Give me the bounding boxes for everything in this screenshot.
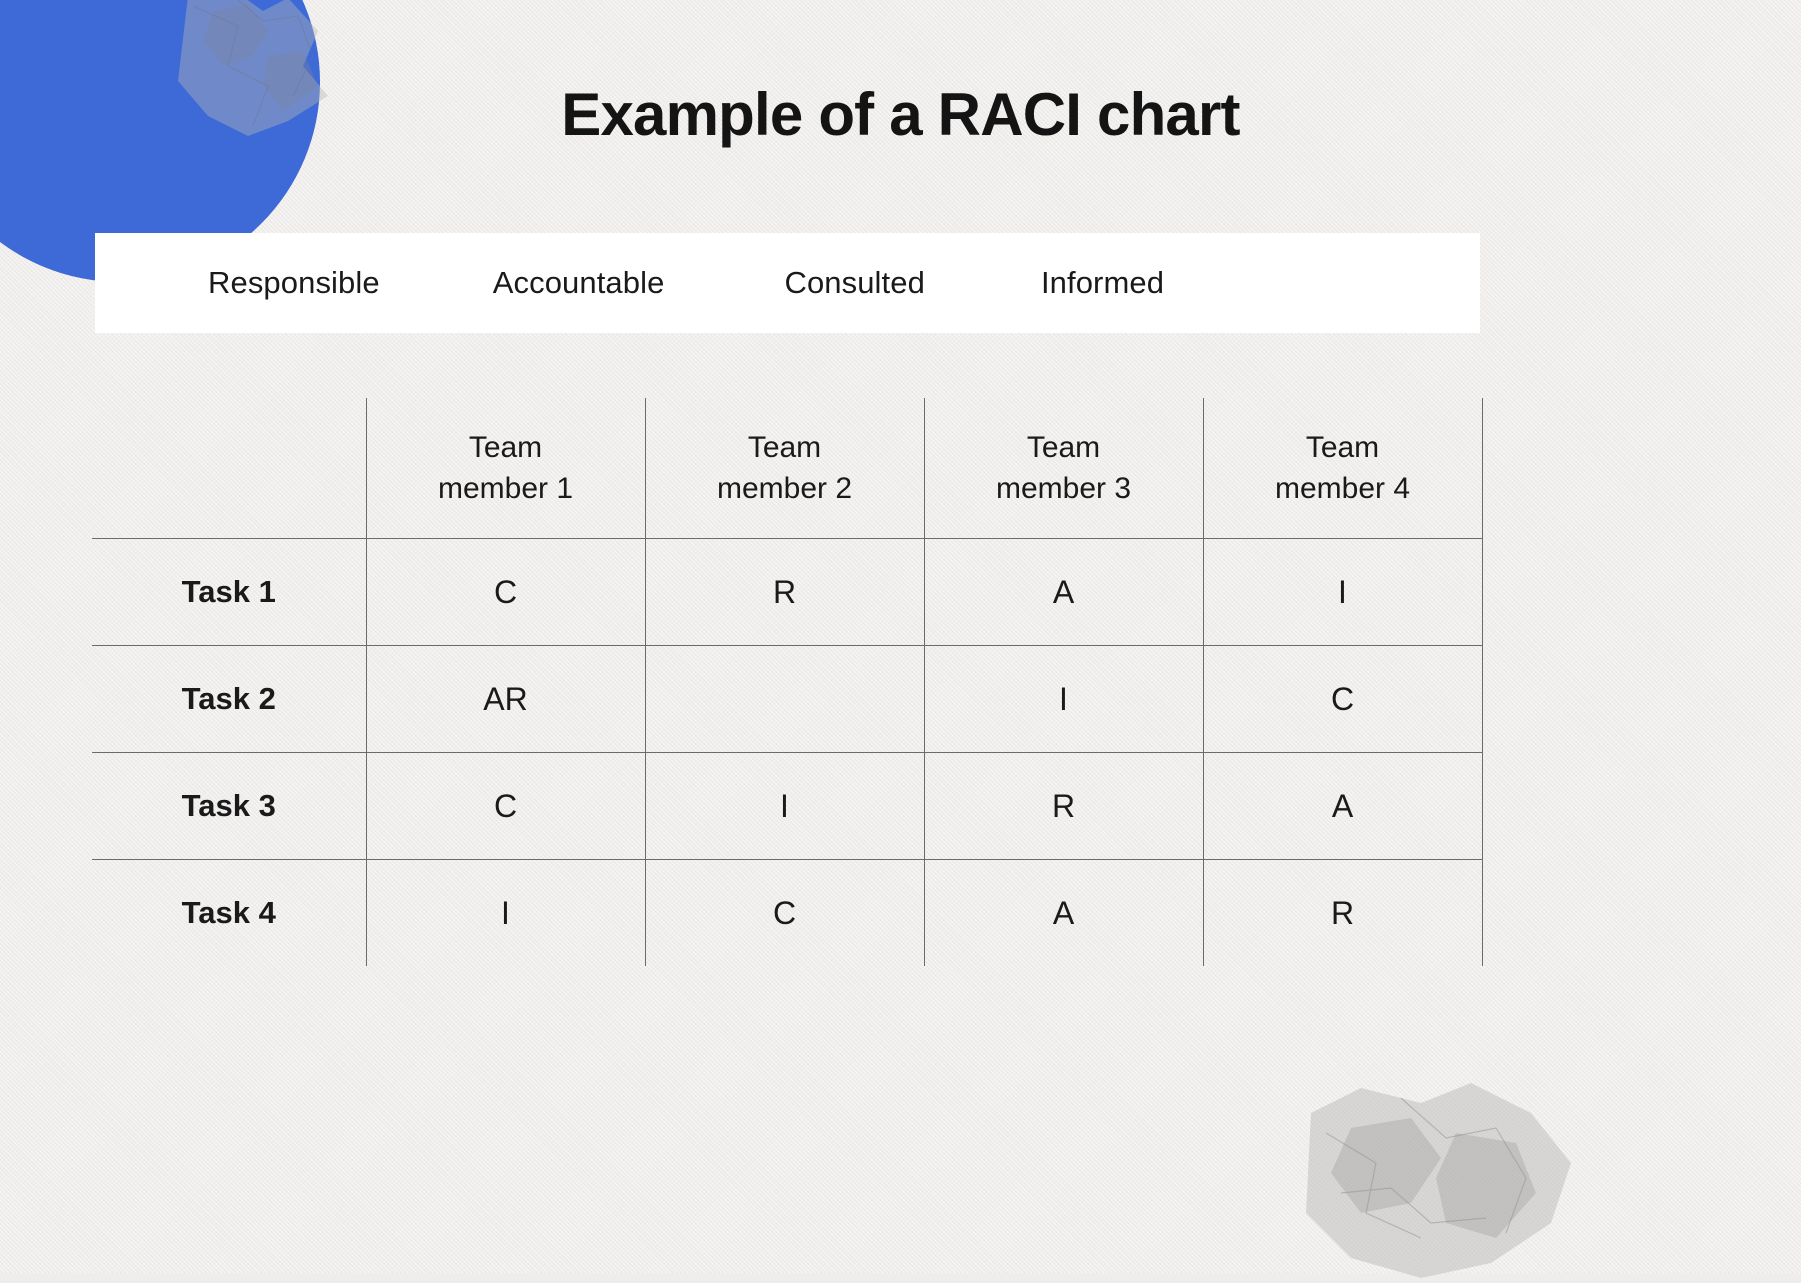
column-header-line2: member 2 (717, 472, 852, 505)
legend-item-informed: Informed (1041, 265, 1164, 301)
cell-task1-member2: R (645, 539, 924, 646)
legend-item-accountable: Accountable (493, 265, 665, 301)
table-corner-cell (92, 398, 366, 539)
column-header-line2: member 4 (1275, 472, 1410, 505)
cell-task2-member4: C (1203, 646, 1482, 753)
column-header-line2: member 1 (438, 472, 573, 505)
row-label-task-2: Task 2 (92, 646, 366, 753)
cell-task4-member1: I (366, 860, 645, 967)
cell-task1-member3: A (924, 539, 1203, 646)
table-body: Task 1 C R A I Task 2 AR I C Task 3 C I … (92, 539, 1482, 967)
table-header: Team member 1 Team member 2 Team member … (92, 398, 1482, 539)
cell-task2-member2 (645, 646, 924, 753)
legend-item-responsible: Responsible (208, 265, 380, 301)
cell-task4-member3: A (924, 860, 1203, 967)
row-label-task-1: Task 1 (92, 539, 366, 646)
table-row: Task 3 C I R A (92, 753, 1482, 860)
column-header-team-member-2: Team member 2 (645, 398, 924, 539)
column-header-line1: Team (1306, 431, 1379, 464)
row-label-task-4: Task 4 (92, 860, 366, 967)
column-header-line1: Team (1027, 431, 1100, 464)
cell-task2-member3: I (924, 646, 1203, 753)
cell-task3-member4: A (1203, 753, 1482, 860)
column-header-line1: Team (469, 431, 542, 464)
table-row: Task 2 AR I C (92, 646, 1482, 753)
cell-task1-member1: C (366, 539, 645, 646)
cell-task4-member2: C (645, 860, 924, 967)
legend-item-consulted: Consulted (784, 265, 925, 301)
cell-task4-member4: R (1203, 860, 1482, 967)
raci-table: Team member 1 Team member 2 Team member … (92, 398, 1483, 966)
column-header-team-member-3: Team member 3 (924, 398, 1203, 539)
column-header-line2: member 3 (996, 472, 1131, 505)
table-row: Task 4 I C A R (92, 860, 1482, 967)
header-row: Team member 1 Team member 2 Team member … (92, 398, 1482, 539)
raci-legend-bar: Responsible Accountable Consulted Inform… (95, 233, 1480, 333)
cell-task3-member3: R (924, 753, 1203, 860)
column-header-team-member-1: Team member 1 (366, 398, 645, 539)
cell-task3-member1: C (366, 753, 645, 860)
cell-task1-member4: I (1203, 539, 1482, 646)
page-title: Example of a RACI chart (0, 80, 1801, 149)
column-header-team-member-4: Team member 4 (1203, 398, 1482, 539)
column-header-line1: Team (748, 431, 821, 464)
table-row: Task 1 C R A I (92, 539, 1482, 646)
row-label-task-3: Task 3 (92, 753, 366, 860)
cell-task2-member1: AR (366, 646, 645, 753)
grey-smudge-bottom-decoration (1281, 1073, 1601, 1283)
cell-task3-member2: I (645, 753, 924, 860)
